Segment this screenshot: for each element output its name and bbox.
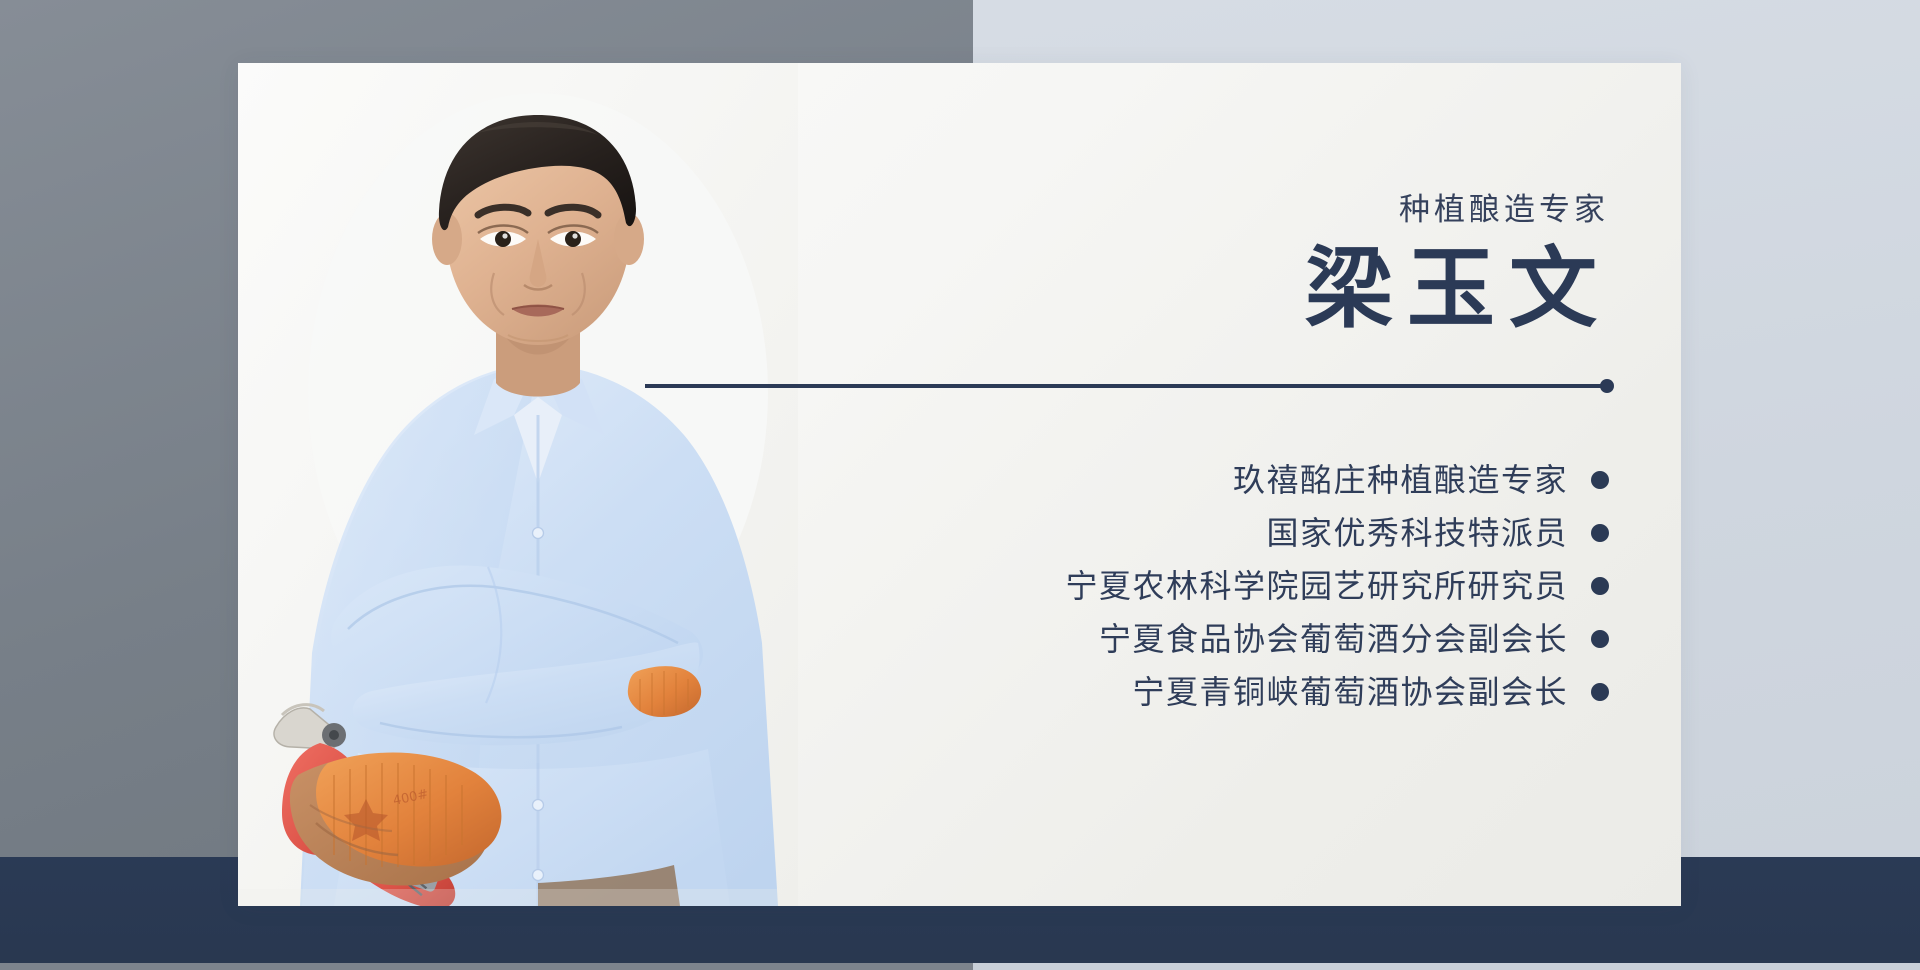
profile-card: 400# 种植酿造专家 梁玉文 玖禧酩庄种植酿造专家 国家优秀科技特派员 [238,63,1681,906]
list-item: 宁夏农林科学院园艺研究所研究员 [729,559,1609,612]
list-item: 玖禧酩庄种植酿造专家 [729,453,1609,506]
credential-label: 宁夏青铜峡葡萄酒协会副会长 [1132,676,1568,708]
credentials-list: 玖禧酩庄种植酿造专家 国家优秀科技特派员 宁夏农林科学院园艺研究所研究员 宁夏食… [729,453,1609,718]
bullet-dot-icon [1591,630,1609,648]
profile-subtitle: 种植酿造专家 [1399,194,1609,225]
list-item: 宁夏青铜峡葡萄酒协会副会长 [729,665,1609,718]
bullet-dot-icon [1591,683,1609,701]
credential-label: 国家优秀科技特派员 [1266,517,1568,549]
profile-text-column: 种植酿造专家 梁玉文 玖禧酩庄种植酿造专家 国家优秀科技特派员 宁夏农林科学院园… [729,63,1609,906]
horizontal-divider [645,384,1611,388]
background-strip-bottom [973,963,1920,970]
expert-portrait-photo: 400# [238,63,798,906]
credential-label: 宁夏农林科学院园艺研究所研究员 [1065,570,1568,602]
divider-end-dot-icon [1600,379,1614,393]
bullet-dot-icon [1591,577,1609,595]
credential-label: 玖禧酩庄种植酿造专家 [1233,464,1568,496]
bullet-dot-icon [1591,524,1609,542]
credential-label: 宁夏食品协会葡萄酒分会副会长 [1099,623,1568,655]
profile-name: 梁玉文 [1305,245,1611,337]
list-item: 国家优秀科技特派员 [729,506,1609,559]
bullet-dot-icon [1591,471,1609,489]
list-item: 宁夏食品协会葡萄酒分会副会长 [729,612,1609,665]
